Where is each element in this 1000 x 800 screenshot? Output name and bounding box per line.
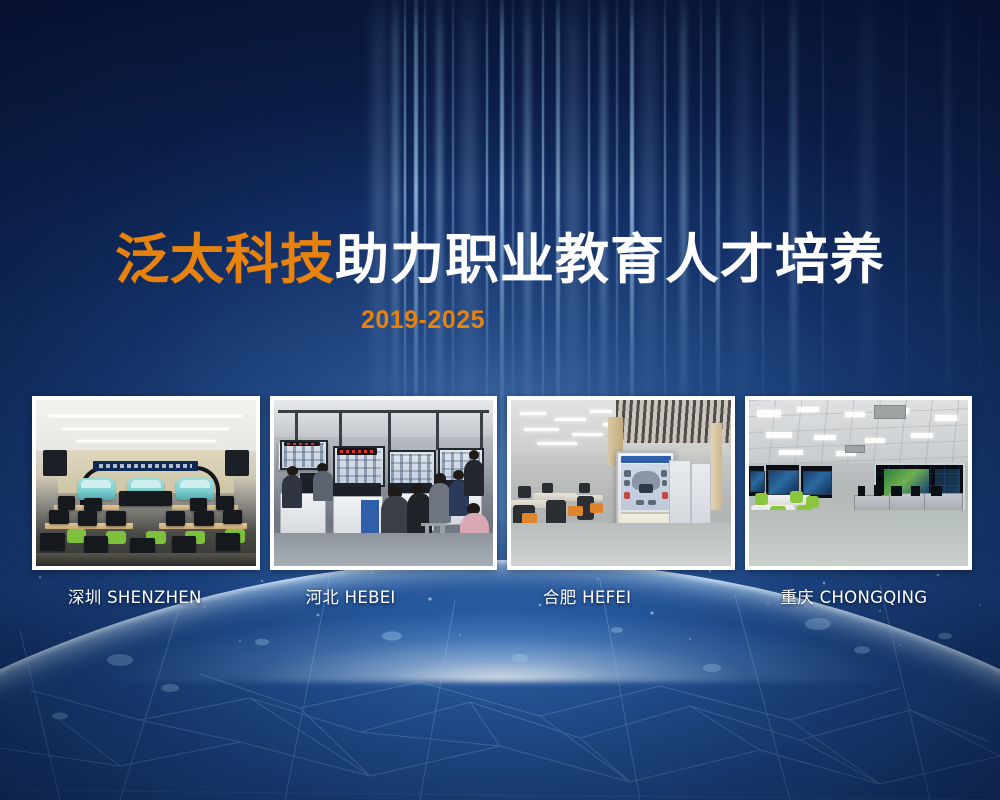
poster-canvas: 泛太科技助力职业教育人才培养 2019-2025 — [0, 0, 1000, 800]
gallery-card-hebei[interactable] — [270, 396, 498, 570]
gallery-card-hefei[interactable] — [507, 396, 735, 570]
caption-shenzhen: 深圳 SHENZHEN — [32, 584, 260, 610]
gallery-card-chongqing[interactable] — [745, 396, 973, 570]
photo-chongqing-smart-classroom — [749, 400, 969, 566]
gallery-card-shenzhen[interactable] — [32, 396, 260, 570]
photo-gallery — [32, 396, 972, 570]
page-title: 泛太科技助力职业教育人才培养 — [0, 232, 1000, 289]
globe-graphic — [0, 540, 1000, 800]
title-tagline: 助力职业教育人才培养 — [335, 228, 885, 291]
star-field — [0, 555, 1000, 705]
photo-hefei-display-lab — [511, 400, 731, 566]
photo-captions: 深圳 SHENZHEN 河北 HEBEI 合肥 HEFEI 重庆 CHONGQI… — [32, 584, 972, 610]
caption-hefei: 合肥 HEFEI — [507, 584, 735, 610]
photo-hebei-training-lab — [274, 400, 494, 566]
year-range: 2019-2025 — [0, 306, 1000, 335]
photo-shenzhen-classroom — [36, 400, 256, 566]
caption-chongqing: 重庆 CHONGQING — [745, 584, 973, 610]
caption-hebei: 河北 HEBEI — [270, 584, 498, 610]
brand-name: 泛太科技 — [115, 228, 335, 291]
